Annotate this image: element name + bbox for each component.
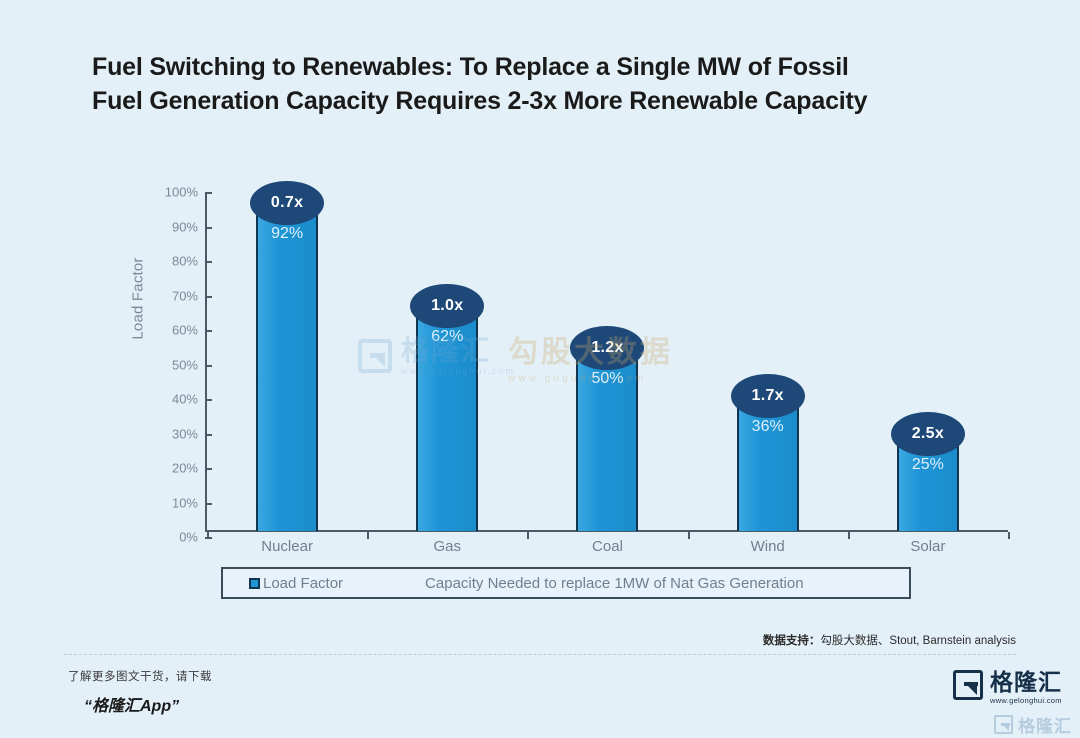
bar-gas[interactable]: 62% [416,317,478,531]
legend-note: Capacity Needed to replace 1MW of Nat Ga… [425,575,804,592]
y-axis-tick [205,399,212,401]
bar-value-label: 62% [418,328,476,346]
chart-legend[interactable]: Load Factor Capacity Needed to replace 1… [221,567,911,599]
y-axis-tick-labels: 100%90%80%70%60%50%40%30%20%10%0% [150,186,198,531]
bar-value-label: 36% [739,418,797,436]
gelonghui-watermark-mark-icon [994,715,1013,734]
y-axis-tick-label: 100% [150,185,198,200]
source-text: 勾股大数据、Stout, Barnstein analysis [820,635,1016,647]
y-axis-tick-label: 20% [150,461,198,476]
y-axis-tick-label: 10% [150,495,198,510]
y-axis-tick-label: 80% [150,254,198,269]
promo-line-2: “格隆汇App” [84,692,212,716]
y-axis-tick [205,468,212,470]
y-axis-tick-label: 50% [150,357,198,372]
x-axis-label-gas: Gas [367,538,527,555]
x-axis-label-solar: Solar [848,538,1008,555]
x-axis-tick [848,532,850,539]
y-axis-tick-label: 60% [150,323,198,338]
y-axis-tick [205,227,212,229]
x-axis-label-nuclear: Nuclear [207,538,367,555]
y-axis-tick [205,503,212,505]
y-axis-title: Load Factor [130,234,147,364]
y-axis-tick-label: 90% [150,219,198,234]
bar-wind[interactable]: 36% [737,407,799,531]
capacity-multiplier-callout: 1.7x [731,374,805,418]
bar-value-label: 92% [258,225,316,243]
legend-swatch-icon [249,578,260,589]
y-axis-tick-label: 30% [150,426,198,441]
promo-line-1: 了解更多图文干货，请下载 [68,668,212,684]
y-axis-tick [205,330,212,332]
y-axis-tick-label: 40% [150,392,198,407]
bar-group: 36%1.7x [688,186,848,531]
logo-url: www.gelonghui.com [990,696,1062,705]
capacity-multiplier-callout: 1.0x [410,284,484,328]
bar-group: 25%2.5x [848,186,1008,531]
logo-watermark-name: 格隆汇 [1018,712,1072,737]
x-axis-tick [527,532,529,539]
bar-value-label: 25% [899,456,957,474]
x-axis-category-labels: NuclearGasCoalWindSolar [207,538,1008,562]
x-axis-tick [688,532,690,539]
bar-group: 62%1.0x [367,186,527,531]
legend-series-label: Load Factor [263,575,343,592]
x-axis-tick [1008,532,1010,539]
x-axis-label-coal: Coal [527,538,687,555]
bar-solar[interactable]: 25% [897,445,959,531]
bar-coal[interactable]: 50% [576,359,638,532]
bar-group: 50%1.2x [527,186,687,531]
x-axis-tick [207,532,209,539]
legend-series-load-factor[interactable]: Load Factor [249,575,343,592]
x-axis-tick [367,532,369,539]
gelonghui-mark-icon [953,670,983,700]
source-credit: 数据支持：勾股大数据、Stout, Barnstein analysis [763,632,1016,648]
plot-area: 92%0.7x62%1.0x50%1.2x36%1.7x25%2.5x [207,186,1008,531]
logo-brand-name: 格隆汇 [990,670,1062,694]
y-axis-tick [205,261,212,263]
capacity-multiplier-callout: 1.2x [570,326,644,370]
x-axis-label-wind: Wind [688,538,848,555]
bar-nuclear[interactable]: 92% [256,214,318,531]
bar-value-label: 50% [578,370,636,388]
gelonghui-logo-watermark: 格隆汇 [994,712,1072,737]
capacity-multiplier-callout: 0.7x [250,181,324,225]
y-axis-tick [205,296,212,298]
gelonghui-logo: 格隆汇 www.gelonghui.com [953,670,1062,705]
y-axis-tick [205,365,212,367]
app-promo: 了解更多图文干货，请下载 “格隆汇App” [68,668,212,716]
y-axis-tick-label: 70% [150,288,198,303]
y-axis-tick [205,434,212,436]
y-axis-tick [205,192,212,194]
bar-group: 92%0.7x [207,186,367,531]
y-axis-tick-label: 0% [150,530,198,545]
bar-chart: Load Factor 100%90%80%70%60%50%40%30%20%… [0,0,1080,738]
capacity-multiplier-callout: 2.5x [891,412,965,456]
source-prefix: 数据支持： [763,635,821,647]
footer-divider [64,654,1016,655]
